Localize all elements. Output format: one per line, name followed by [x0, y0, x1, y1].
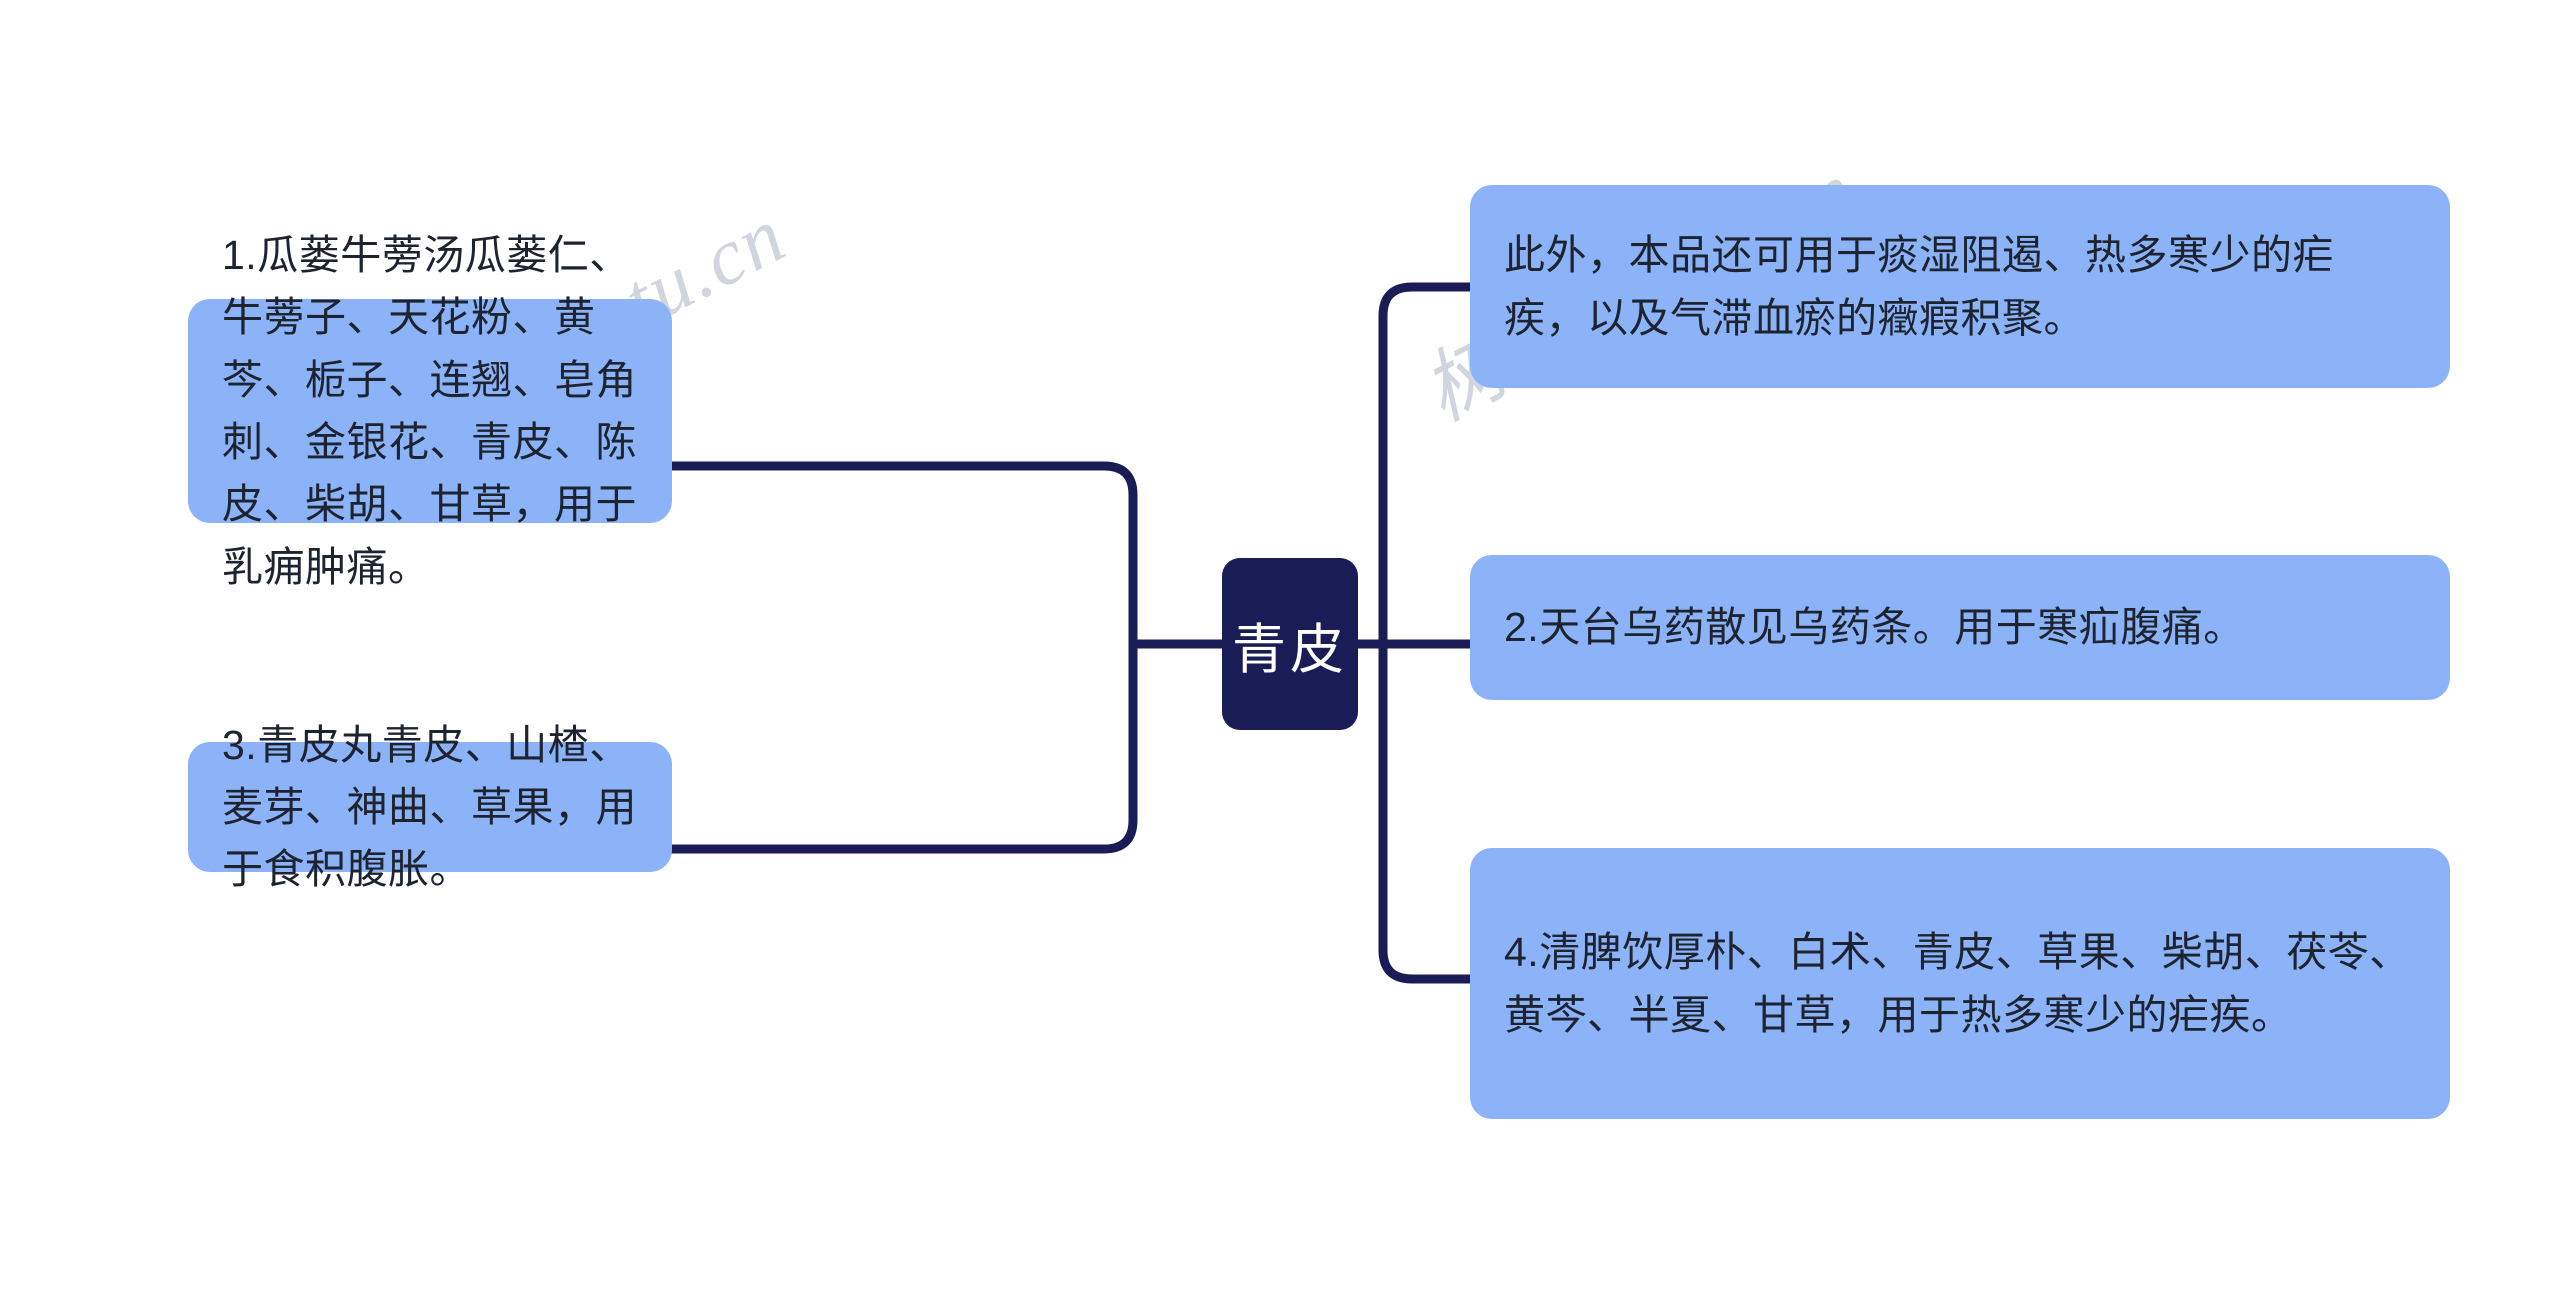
- mindmap-node-right-0[interactable]: 此外，本品还可用于痰湿阻遏、热多寒少的疟疾，以及气滞血瘀的癥瘕积聚。: [1470, 185, 2450, 388]
- connector-left-1: [672, 466, 1133, 495]
- mindmap-node-right-0-label: 此外，本品还可用于痰湿阻遏、热多寒少的疟疾，以及气滞血瘀的癥瘕积聚。: [1504, 224, 2416, 349]
- mindmap-node-right-4[interactable]: 4.清脾饮厚朴、白术、青皮、草果、柴胡、茯苓、黄芩、半夏、甘草，用于热多寒少的疟…: [1470, 848, 2450, 1119]
- mindmap-node-right-4-label: 4.清脾饮厚朴、白术、青皮、草果、柴胡、茯苓、黄芩、半夏、甘草，用于热多寒少的疟…: [1504, 921, 2416, 1046]
- connector-right-0: [1383, 287, 1470, 316]
- mindmap-center-node-label: 青皮: [1232, 605, 1348, 684]
- mindmap-canvas: 树图 shutu.cn 树图 shutu.cn 1.瓜蒌牛蒡汤瓜蒌仁、牛蒡子、天…: [0, 0, 2560, 1298]
- mindmap-node-right-2-label: 2.天台乌药散见乌药条。用于寒疝腹痛。: [1504, 596, 2416, 658]
- mindmap-node-right-2[interactable]: 2.天台乌药散见乌药条。用于寒疝腹痛。: [1470, 555, 2450, 700]
- connector-left-3: [672, 820, 1133, 849]
- mindmap-node-left-1[interactable]: 1.瓜蒌牛蒡汤瓜蒌仁、牛蒡子、天花粉、黄芩、栀子、连翘、皂角刺、金银花、青皮、陈…: [188, 299, 672, 523]
- mindmap-node-left-3[interactable]: 3.青皮丸青皮、山楂、麦芽、神曲、草果，用于食积腹胀。: [188, 742, 672, 872]
- connector-right-4: [1383, 950, 1470, 979]
- mindmap-node-left-3-label: 3.青皮丸青皮、山楂、麦芽、神曲、草果，用于食积腹胀。: [222, 714, 638, 901]
- mindmap-node-left-1-label: 1.瓜蒌牛蒡汤瓜蒌仁、牛蒡子、天花粉、黄芩、栀子、连翘、皂角刺、金银花、青皮、陈…: [222, 224, 638, 598]
- mindmap-center-node[interactable]: 青皮: [1222, 558, 1358, 730]
